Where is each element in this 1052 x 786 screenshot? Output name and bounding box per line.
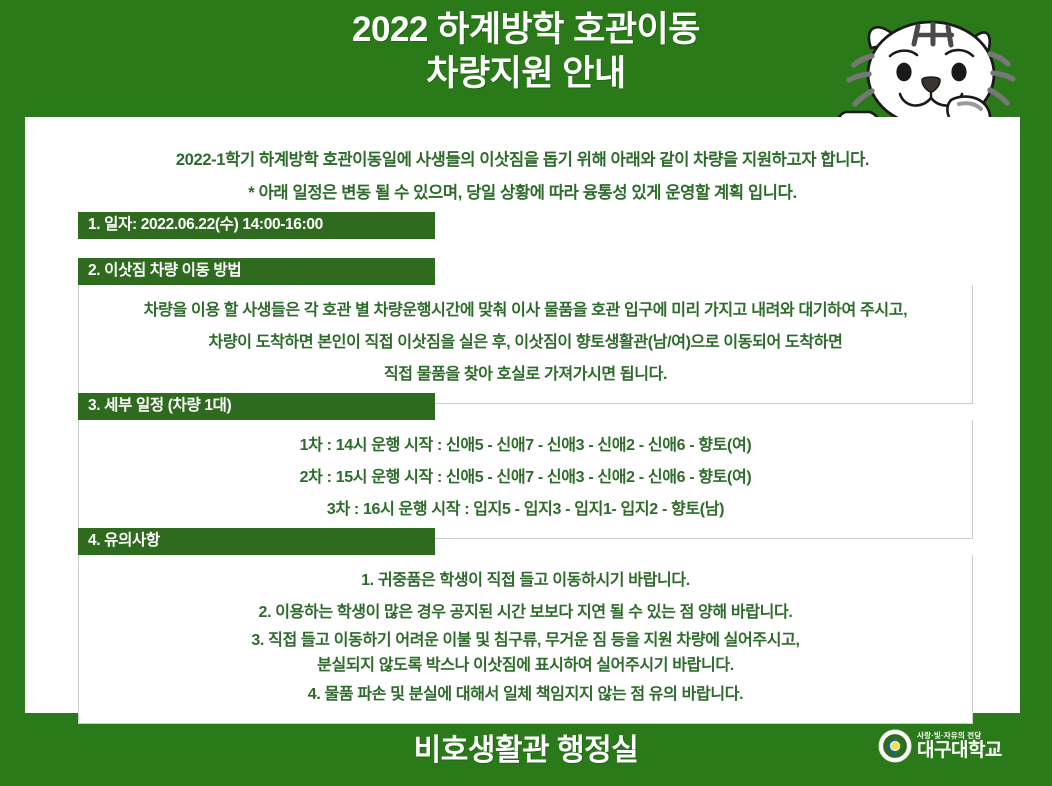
- section-method-body: 차량을 이용 할 사생들은 각 호관 별 차량운행시간에 맞춰 이사 물품을 호…: [78, 285, 973, 404]
- page-title: 2022 하계방학 호관이동 차량지원 안내: [0, 8, 1052, 96]
- notice-item-1: 1. 귀중품은 학생이 직접 들고 이동하시기 바랍니다.: [91, 565, 960, 597]
- section-method: 2. 이삿짐 차량 이동 방법 차량을 이용 할 사생들은 각 호관 별 차량운…: [78, 258, 973, 404]
- notice-item-4: 4. 물품 파손 및 분실에 대해서 일체 책임지지 않는 점 유의 바랍니다.: [91, 679, 960, 711]
- section-method-heading: 2. 이삿짐 차량 이동 방법: [78, 258, 435, 285]
- section-schedule: 3. 세부 일정 (차량 1대) 1차 : 14시 운행 시작 : 신애5 - …: [78, 393, 973, 539]
- section-date-heading: 1. 일자: 2022.06.22(수) 14:00-16:00: [78, 212, 435, 239]
- notice-item-3-cont: 분실되지 않도록 박스나 이삿짐에 표시하여 실어주시기 바랍니다.: [91, 654, 960, 679]
- university-name: 대구대학교: [917, 741, 1002, 760]
- content-card: 2022-1학기 하계방학 호관이동일에 사생들의 이삿짐을 돕기 위해 아래와…: [25, 117, 1020, 713]
- poster-canvas: 2022 하계방학 호관이동 차량지원 안내: [0, 0, 1052, 786]
- section-notices: 4. 유의사항 1. 귀중품은 학생이 직접 들고 이동하시기 바랍니다. 2.…: [78, 528, 973, 724]
- schedule-trip-1: 1차 : 14시 운행 시작 : 신애5 - 신애7 - 신애3 - 신애2 -…: [91, 430, 960, 462]
- intro-text: 2022-1학기 하계방학 호관이동일에 사생들의 이삿짐을 돕기 위해 아래와…: [25, 144, 1020, 210]
- university-tagline: 사랑·빛·자유의 전당: [917, 732, 1002, 740]
- section-schedule-body: 1차 : 14시 운행 시작 : 신애5 - 신애7 - 신애3 - 신애2 -…: [78, 420, 973, 539]
- page-title-line-1: 2022 하계방학 호관이동: [0, 8, 1052, 52]
- intro-line-1: 2022-1학기 하계방학 호관이동일에 사생들의 이삿짐을 돕기 위해 아래와…: [25, 144, 1020, 177]
- university-brand-text: 사랑·빛·자유의 전당 대구대학교: [917, 732, 1002, 761]
- notice-item-3: 3. 직접 들고 이동하기 어려운 이불 및 침구류, 무거운 짐 등을 지원 …: [91, 629, 960, 654]
- section-schedule-heading: 3. 세부 일정 (차량 1대): [78, 393, 435, 420]
- intro-line-2: * 아래 일정은 변동 될 수 있으며, 당일 상황에 따라 융통성 있게 운영…: [25, 177, 1020, 210]
- section-date: 1. 일자: 2022.06.22(수) 14:00-16:00: [78, 212, 973, 239]
- method-line-2: 차량이 도착하면 본인이 직접 이삿짐을 실은 후, 이삿짐이 향토생활관(남/…: [91, 327, 960, 359]
- method-line-1: 차량을 이용 할 사생들은 각 호관 별 차량운행시간에 맞춰 이사 물품을 호…: [91, 295, 960, 327]
- schedule-trip-3: 3차 : 16시 운행 시작 : 입지5 - 입지3 - 입지1- 입지2 - …: [91, 494, 960, 526]
- section-notices-heading: 4. 유의사항: [78, 528, 435, 555]
- method-line-3: 직접 물품을 찾아 호실로 가져가시면 됩니다.: [91, 359, 960, 391]
- university-seal-icon: [878, 729, 912, 763]
- notice-item-2: 2. 이용하는 학생이 많은 경우 공지된 시간 보보다 지연 될 수 있는 점…: [91, 597, 960, 629]
- page-title-line-2: 차량지원 안내: [0, 52, 1052, 96]
- section-notices-body: 1. 귀중품은 학생이 직접 들고 이동하시기 바랍니다. 2. 이용하는 학생…: [78, 555, 973, 724]
- schedule-trip-2: 2차 : 15시 운행 시작 : 신애5 - 신애7 - 신애3 - 신애2 -…: [91, 462, 960, 494]
- university-brand: 사랑·빛·자유의 전당 대구대학교: [878, 729, 1002, 763]
